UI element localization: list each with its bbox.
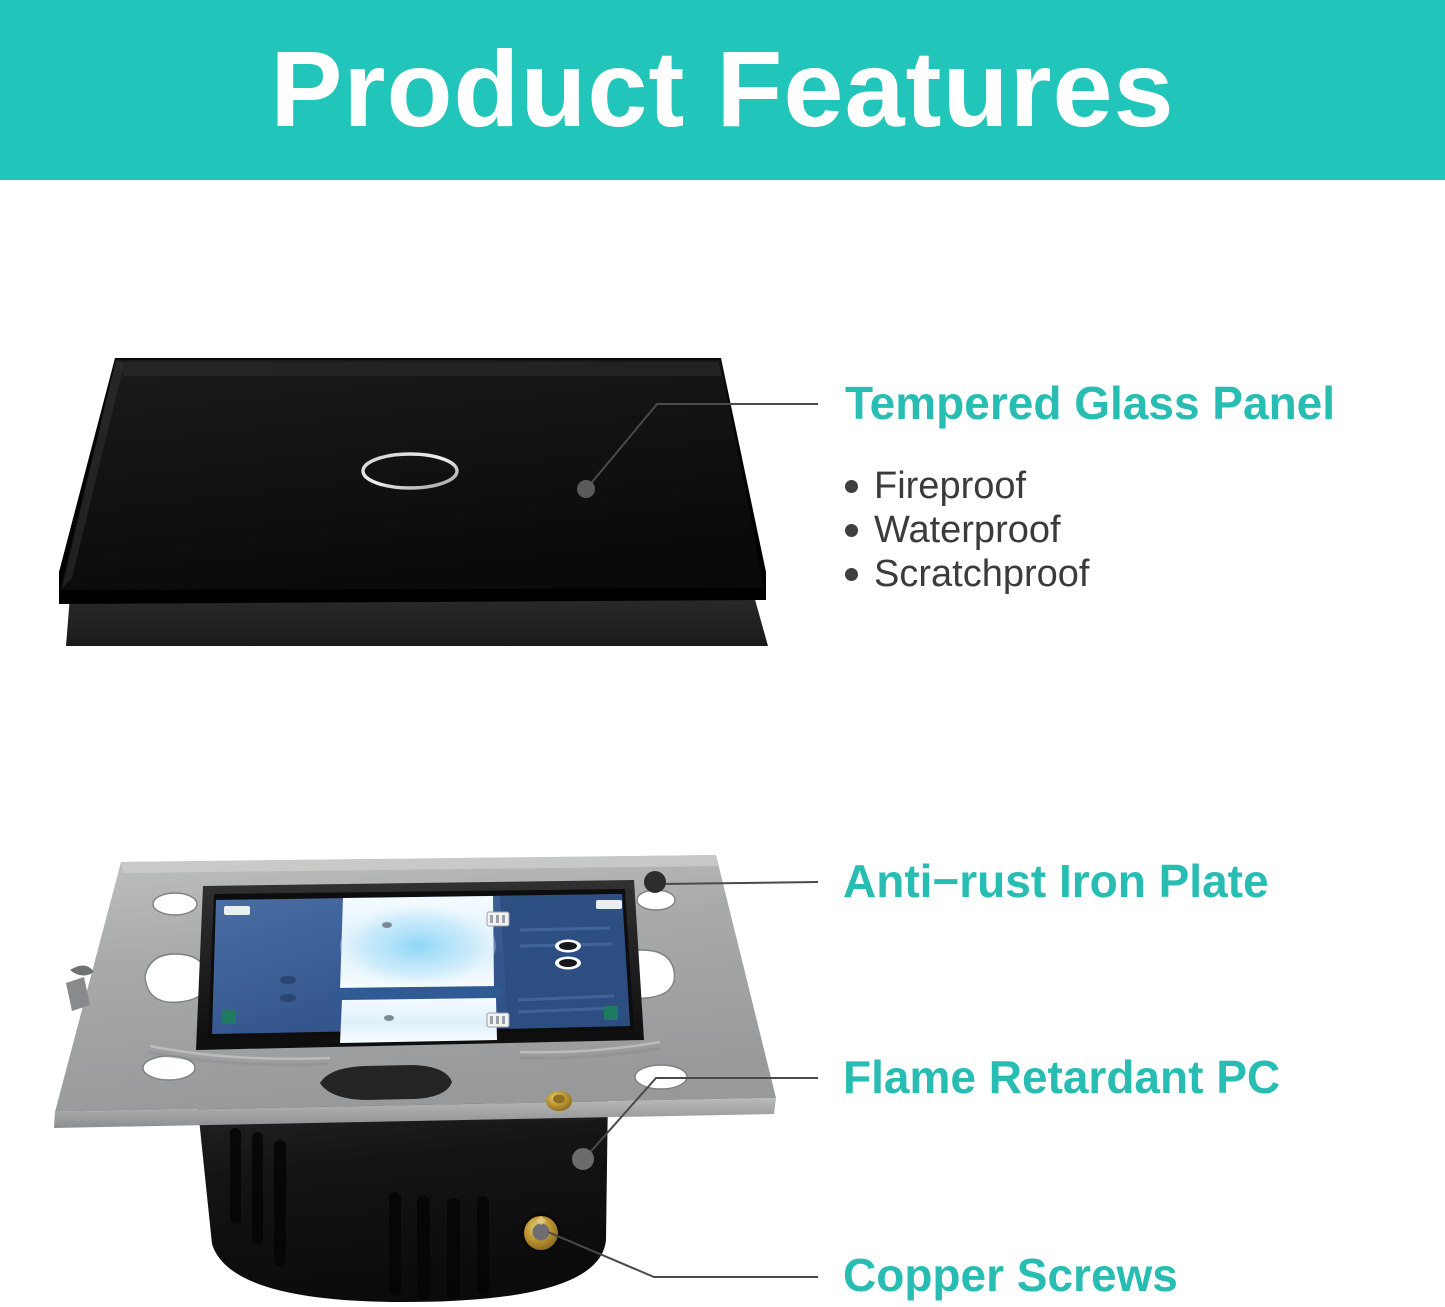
header-banner: Product Features: [0, 0, 1445, 180]
bullet-label: Scratchproof: [874, 553, 1089, 595]
feature-title-copper-screws: Copper Screws: [843, 1248, 1178, 1302]
glass-panel-illustration: [59, 358, 768, 646]
callout-dot-flame-retardant-pc: [572, 1148, 594, 1170]
list-item: Scratchproof: [845, 553, 1365, 595]
feature-title-flame-retardant-pc: Flame Retardant PC: [843, 1050, 1280, 1104]
bullet-label: Waterproof: [874, 509, 1061, 551]
bullet-label: Fireproof: [874, 465, 1026, 507]
callout-dot-anti-rust-iron-plate: [644, 871, 666, 893]
leader-copper-screws: [548, 1232, 818, 1277]
copper-screw-main: [521, 1213, 561, 1253]
list-item: Fireproof: [845, 465, 1365, 507]
bullet-dot-icon: [845, 568, 858, 581]
product-features-infographic: Product Features: [0, 0, 1445, 1307]
touch-indicator-oval: [363, 454, 457, 488]
bullet-dot-icon: [845, 524, 858, 537]
bullet-dot-icon: [845, 480, 858, 493]
tempered-glass-panel-bullets: Fireproof Waterproof Scratchproof: [845, 465, 1365, 597]
product-artwork: [0, 0, 1445, 1307]
leader-flame-retardant-pc: [585, 1078, 818, 1158]
list-item: Waterproof: [845, 509, 1365, 551]
page-title: Product Features: [0, 30, 1445, 148]
switch-back-assembly-illustration: [54, 855, 776, 1302]
feature-title-tempered-glass-panel: Tempered Glass Panel: [845, 376, 1335, 430]
callout-leader-lines: [548, 404, 818, 1277]
leader-tempered-glass-panel: [588, 404, 818, 487]
leader-anti-rust-iron-plate: [660, 882, 818, 884]
callout-dot-tempered-glass-panel: [577, 480, 595, 498]
copper-screw-upper: [546, 1091, 572, 1111]
feature-title-anti-rust-iron-plate: Anti−rust Iron Plate: [843, 854, 1269, 908]
